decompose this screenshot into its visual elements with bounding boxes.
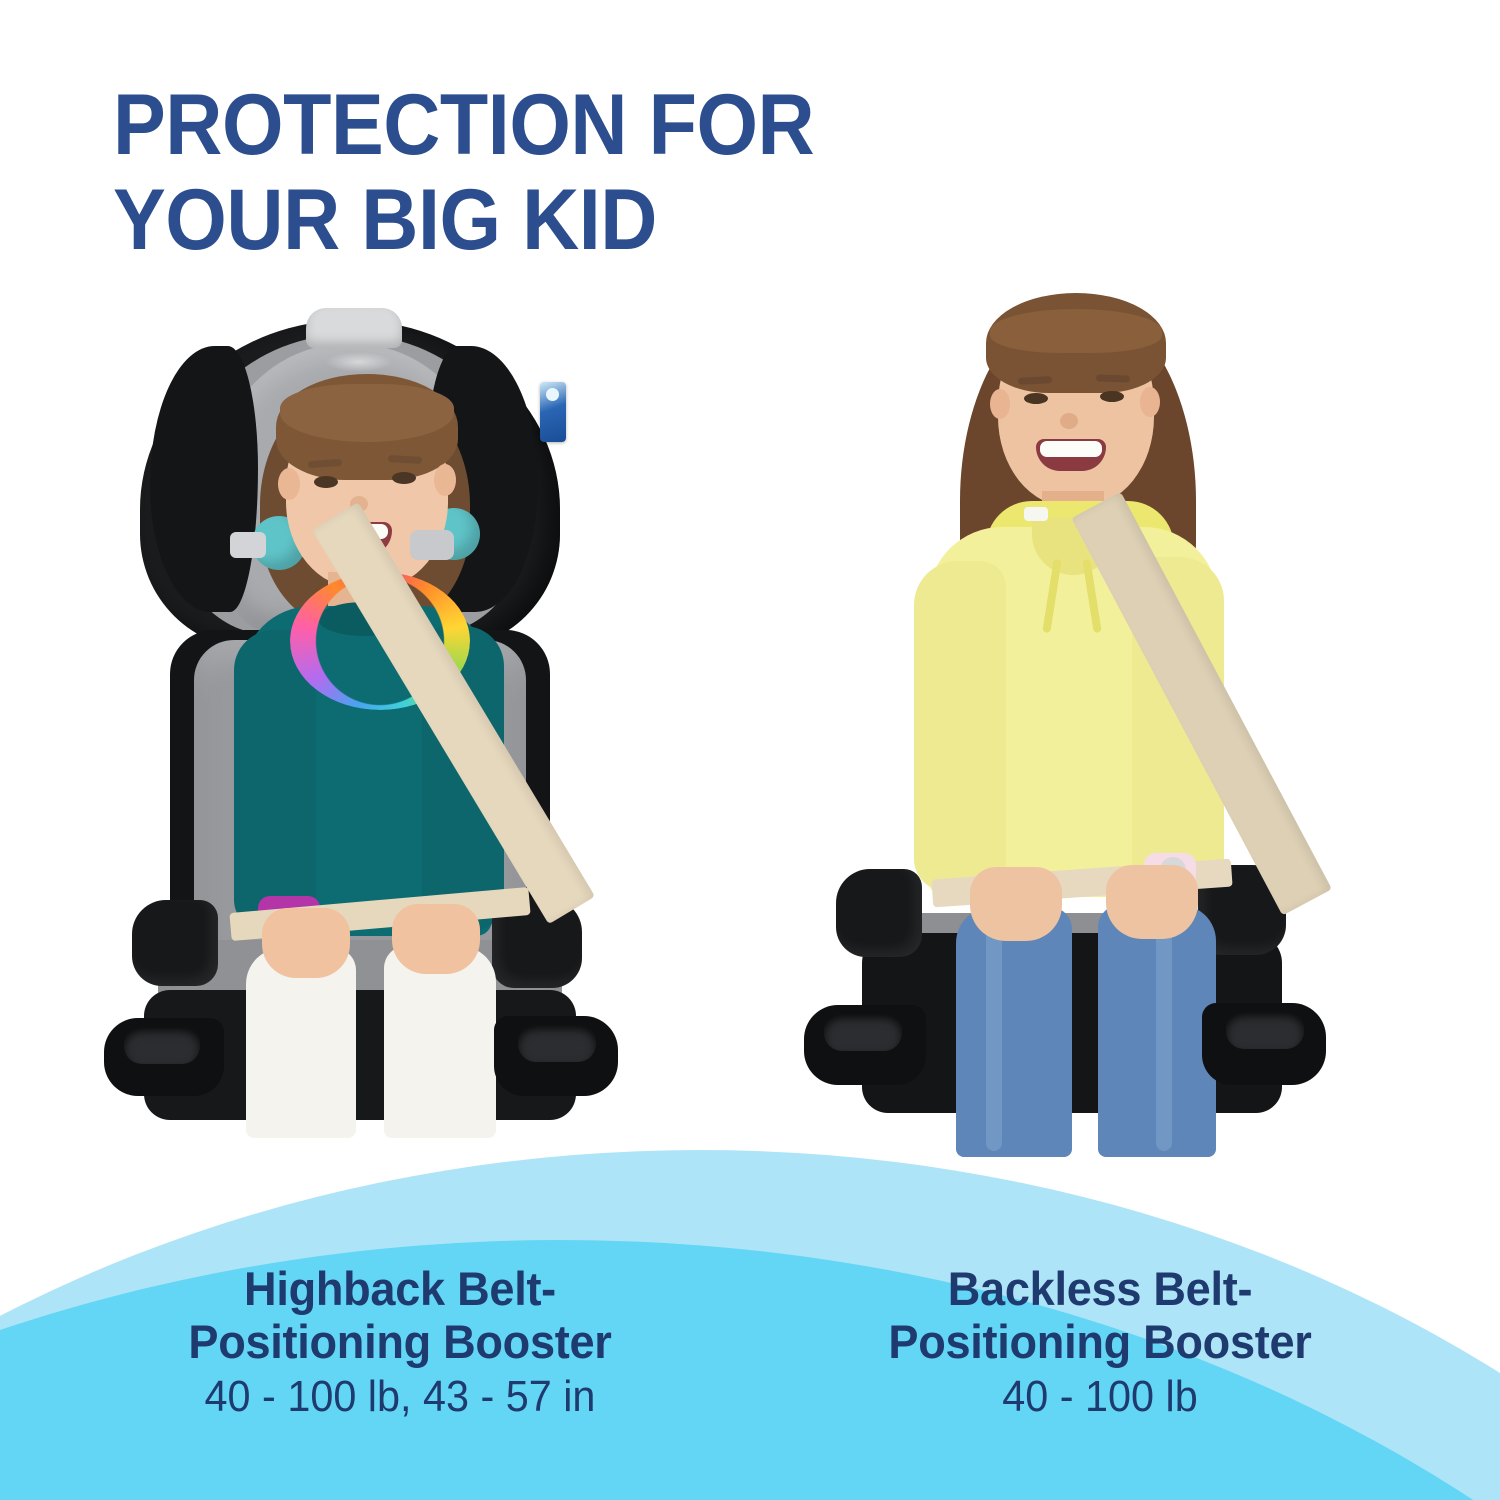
child-hand-left	[262, 908, 350, 978]
child-eyebrow-right	[1096, 374, 1130, 382]
brand-logo-emboss	[325, 352, 393, 372]
headline-line-2: YOUR BIG KID	[113, 173, 1033, 268]
child-nose	[1060, 413, 1078, 429]
child-ear-left	[990, 389, 1010, 419]
child-eye-left	[314, 476, 338, 488]
child-hair-braid	[990, 309, 1162, 353]
cup-holder-left-well	[824, 1013, 902, 1051]
drawstring-aglet-left	[1024, 507, 1048, 521]
child-eye-left	[1024, 393, 1048, 404]
headrest-side-wing-left	[150, 346, 258, 612]
caption-highback: Highback Belt- Positioning Booster 40 - …	[60, 1262, 740, 1423]
caption-backless: Backless Belt- Positioning Booster 40 - …	[760, 1262, 1440, 1423]
child-arm-left	[914, 561, 1006, 891]
child-hand-left	[970, 867, 1062, 941]
child-eye-right	[1100, 391, 1124, 402]
belt-guide-left	[230, 532, 266, 558]
child-hand-right	[1106, 865, 1198, 939]
caption-highback-title-line2: Positioning Booster	[74, 1315, 727, 1368]
belt-guide-right	[410, 530, 454, 560]
cup-holder-right-well	[518, 1024, 596, 1062]
cup-holder-left-well	[124, 1026, 200, 1064]
cup-holder-right-well	[1226, 1011, 1304, 1049]
child-ear-right	[1140, 387, 1160, 417]
headline-line-1: PROTECTION FOR	[113, 78, 1033, 173]
child-eye-right	[392, 472, 416, 484]
highback-booster-photo	[110, 300, 710, 1160]
backless-booster-photo	[810, 265, 1410, 1165]
caption-highback-spec: 40 - 100 lb, 43 - 57 in	[80, 1371, 719, 1423]
child-hand-right	[392, 904, 480, 974]
child-hair-fringe	[280, 384, 454, 442]
child-ear-left	[278, 468, 300, 500]
caption-backless-title-line1: Backless Belt-	[774, 1262, 1427, 1315]
brand-tag-icon	[546, 388, 559, 401]
caption-highback-title-line1: Highback Belt-	[74, 1262, 727, 1315]
product-feature-image: PROTECTION FOR YOUR BIG KID	[0, 0, 1500, 1500]
armrest-left	[836, 869, 922, 957]
child-ear-right	[434, 464, 456, 496]
headrest-adjust-handle	[306, 308, 402, 348]
armrest-left	[132, 900, 218, 986]
child-teeth	[1040, 441, 1102, 457]
caption-backless-spec: 40 - 100 lb	[780, 1371, 1419, 1423]
page-title: PROTECTION FOR YOUR BIG KID	[113, 78, 1113, 268]
caption-backless-title-line2: Positioning Booster	[774, 1315, 1427, 1368]
